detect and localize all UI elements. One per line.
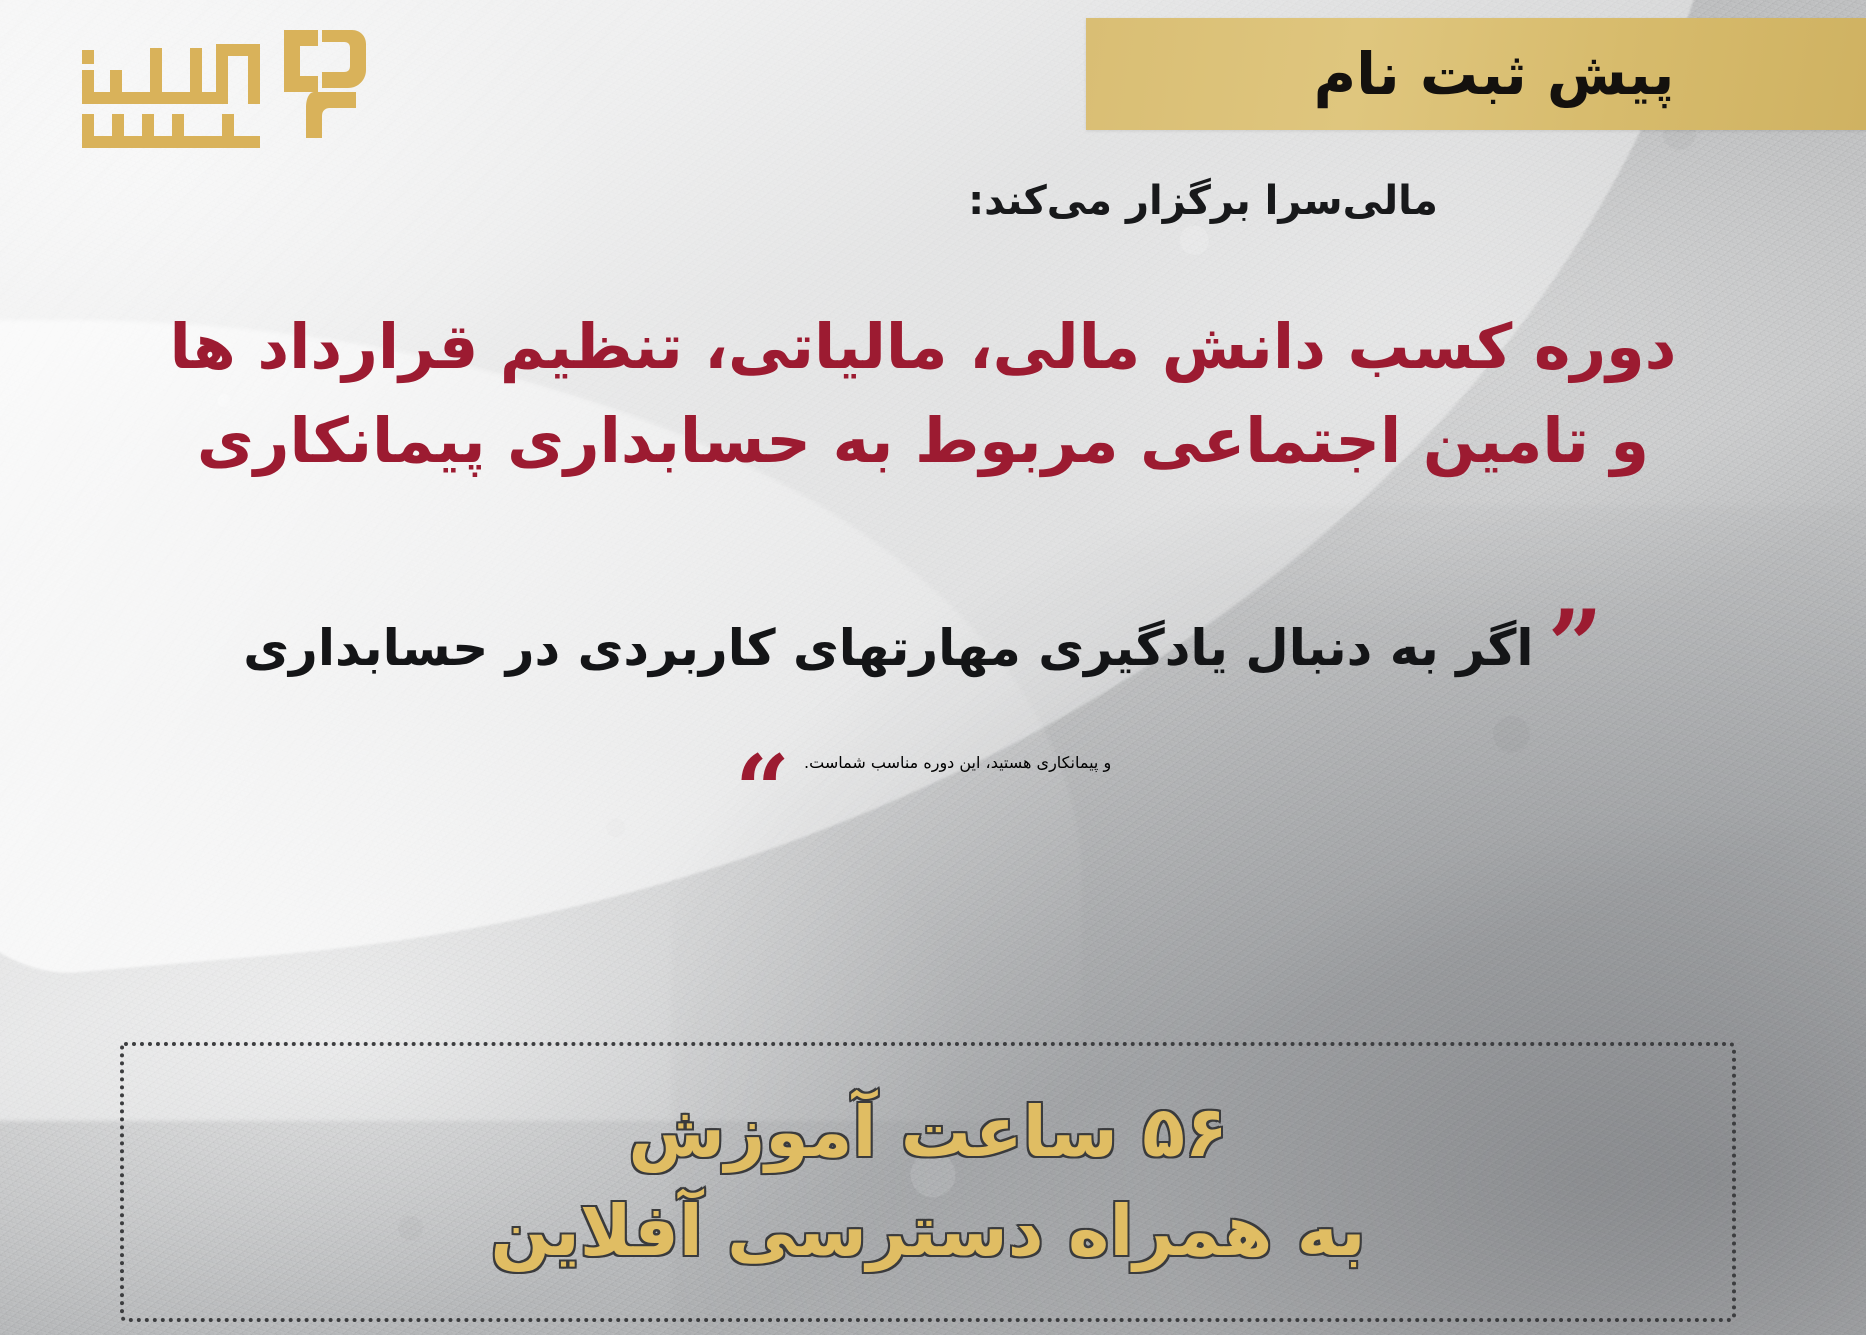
mali-sara-logo-icon <box>46 14 366 154</box>
quote-line-2: و پیمانکاری هستید، این دوره مناسب شماست. <box>804 753 1111 772</box>
quote-block: ” اگر به دنبال یادگیری مهارتهای کاربردی … <box>90 608 1756 813</box>
poster-canvas: پیش ثبت نام مالی‌سرا برگزار می‌کند: دوره… <box>0 0 1866 1335</box>
offer-line-1: ۵۶ ساعت آموزش <box>628 1090 1227 1175</box>
brand-logo <box>46 14 366 154</box>
presenter-line: مالی‌سرا برگزار می‌کند: <box>0 178 1866 224</box>
offer-highlight-box: ۵۶ ساعت آموزش به همراه دسترسی آفلاین <box>120 1042 1736 1322</box>
quote-line-1: اگر به دنبال یادگیری مهارتهای کاربردی در… <box>243 608 1533 689</box>
quote-open-mark-icon: ” <box>1548 616 1603 676</box>
pre-registration-badge[interactable]: پیش ثبت نام <box>1086 18 1866 130</box>
quote-close-mark-icon: “ <box>735 761 790 821</box>
quote-row-2: و پیمانکاری هستید، این دوره مناسب شماست.… <box>90 753 1756 813</box>
offer-line-2: به همراه دسترسی آفلاین <box>491 1189 1366 1274</box>
pre-registration-badge-label: پیش ثبت نام <box>1278 40 1675 108</box>
quote-row-1: ” اگر به دنبال یادگیری مهارتهای کاربردی … <box>90 608 1756 689</box>
course-title: دوره کسب دانش مالی، مالیاتی، تنظیم قرارد… <box>60 300 1786 488</box>
course-title-line-1: دوره کسب دانش مالی، مالیاتی، تنظیم قرارد… <box>60 300 1786 394</box>
course-title-line-2: و تامین اجتماعی مربوط به حسابداری پیمانک… <box>60 394 1786 488</box>
